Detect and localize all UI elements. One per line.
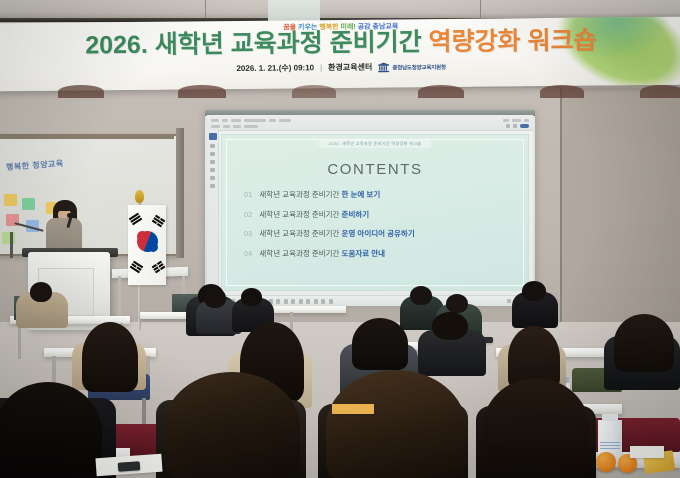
- tangerine: [596, 452, 616, 472]
- banner-title: 2026. 새학년 교육과정 준비기간 역량강화 워크숍: [0, 28, 680, 60]
- sticky-note: [22, 198, 35, 210]
- whiteboard-note: 행복한 청양교육: [6, 158, 64, 173]
- wall-right: [560, 88, 680, 333]
- banner-date: 2026. 1. 21.(수) 09:10: [236, 62, 314, 74]
- sticky-note: [2, 232, 15, 244]
- korean-flag: [128, 205, 166, 285]
- microphone-stand-pole: [10, 232, 13, 258]
- contents-item-text: 새학년 교육과정 준비기간: [259, 229, 341, 238]
- contents-item: 02 새학년 교육과정 준비기간 준비하기: [244, 209, 514, 220]
- door-frame: [176, 128, 184, 258]
- slide-title: CONTENTS: [222, 161, 528, 178]
- presenter-fringe: [55, 202, 75, 211]
- banner-title-accent: 역량강화 워크숍: [428, 27, 596, 57]
- banner-venue: 환경교육센터: [328, 62, 372, 73]
- sticky-note: [4, 194, 17, 206]
- slide-thumbnail-rail[interactable]: [207, 130, 219, 295]
- contents-item-number: 02: [244, 212, 252, 219]
- desk-row: [272, 306, 346, 313]
- microphone-head: [67, 213, 72, 218]
- contents-item-number: 04: [244, 251, 252, 258]
- contents-item-highlight: 한 눈에 보기: [342, 190, 381, 199]
- ceiling-hook: [480, 0, 481, 18]
- slide-thumbnail-selected[interactable]: [209, 133, 217, 140]
- slide-header-tag: 2026. 새학년 교육과정 준비기간 역량강화 워크숍: [318, 140, 431, 148]
- contents-item: 03 새학년 교육과정 준비기간 운영 아이디어 공유하기: [244, 228, 514, 239]
- presentation-app-window[interactable]: 2026. 새학년 교육과정 준비기간 역량강화 워크숍 CONTENTS 01…: [207, 115, 533, 295]
- contents-item-highlight: 도움자료 안내: [342, 249, 385, 258]
- far-row-silhouettes: [0, 85, 680, 99]
- close-icon[interactable]: [520, 124, 529, 128]
- maximize-icon[interactable]: [513, 124, 517, 128]
- folder: [332, 404, 374, 414]
- event-banner: 꿈을 키우는 행복한 미래! 공감 충남교육 2026. 새학년 교육과정 준비…: [0, 17, 680, 92]
- wall-corner-edge: [560, 88, 562, 333]
- trigram-geon: [129, 213, 143, 226]
- whiteboard-top-rail: [0, 134, 174, 139]
- contents-item-text: 새학년 교육과정 준비기간: [259, 249, 341, 258]
- contents-item: 01 새학년 교육과정 준비기간 한 눈에 보기: [244, 189, 514, 200]
- contents-item-highlight: 준비하기: [342, 210, 370, 219]
- taegeuk-red-lobe: [137, 231, 148, 242]
- workshop-photo-scene: 행복한 청양교육 꿈을 키우는 행복한 미래! 공감 충남교육 2026. 새학…: [0, 0, 680, 478]
- trigram-ri: [130, 261, 144, 274]
- minimize-icon[interactable]: [506, 124, 510, 128]
- contents-list: 01 새학년 교육과정 준비기간 한 눈에 보기 02 새학년 교육과정 준비기…: [244, 189, 514, 267]
- pen: [118, 461, 141, 472]
- contents-item-highlight: 운영 아이디어 공유하기: [342, 229, 415, 238]
- trigram-gon: [152, 261, 166, 274]
- slide-canvas[interactable]: 2026. 새학년 교육과정 준비기간 역량강화 워크숍 CONTENTS 01…: [221, 134, 529, 291]
- contents-item-number: 03: [244, 231, 252, 238]
- organization-name: 충청남도청양교육지원청: [392, 62, 446, 71]
- taegeuk-symbol: [133, 227, 162, 256]
- banner-title-main: 2026. 새학년 교육과정 준비기간: [85, 28, 422, 59]
- flag-finial: [135, 190, 144, 203]
- ceiling-hook: [205, 0, 206, 18]
- contents-item: 04 새학년 교육과정 준비기간 도움자료 안내: [244, 248, 514, 259]
- projection-screen: 2026. 새학년 교육과정 준비기간 역량강화 워크숍 CONTENTS 01…: [205, 110, 535, 302]
- banner-separator: |: [320, 63, 322, 72]
- trigram-gam: [152, 215, 166, 228]
- side-table-leg: [118, 276, 121, 320]
- paper-sheet: [630, 446, 664, 458]
- building-icon: [378, 62, 389, 72]
- contents-item-number: 01: [244, 192, 252, 199]
- taegeuk-blue-lobe: [148, 242, 159, 253]
- organization-block: 충청남도청양교육지원청: [378, 61, 446, 72]
- contents-item-text: 새학년 교육과정 준비기간: [259, 210, 341, 219]
- contents-item-text: 새학년 교육과정 준비기간: [259, 190, 341, 199]
- app-ribbon[interactable]: [207, 115, 533, 131]
